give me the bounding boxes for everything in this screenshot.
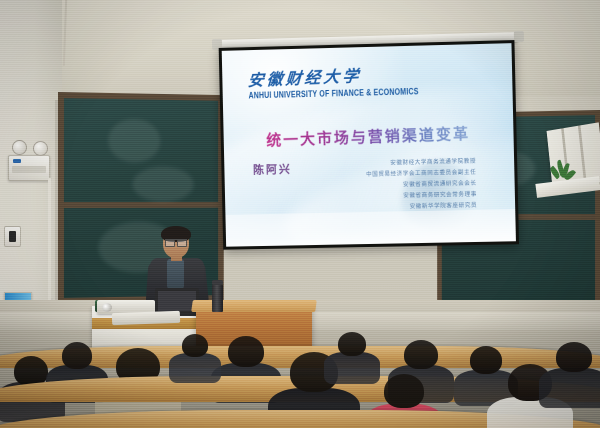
audience-person-head: [404, 340, 438, 369]
eyeglasses-icon: [165, 239, 187, 245]
potted-plant: [548, 160, 574, 188]
wall-dial-icon[interactable]: [12, 140, 27, 155]
roller-bracket-right: [514, 31, 524, 42]
audience-person-body: [324, 352, 380, 384]
slide-credential-line: 安徽新华学院客座研究员: [410, 200, 478, 209]
audience-person-head: [556, 342, 592, 372]
audience-person-head: [470, 346, 502, 374]
vacuum-flask: [212, 284, 223, 312]
presenter-shirt: [167, 259, 184, 289]
audience-person-head: [338, 332, 366, 356]
lectern-top-surface: [191, 300, 317, 312]
slide-bottom-band: [225, 210, 515, 247]
projection-screen-frame: 安徽财经大学 ANHUI UNIVERSITY OF FINANCE & ECO…: [219, 40, 519, 250]
audience-person-head: [228, 336, 264, 367]
slide-credential-line: 安徽省商务研究会常务理事: [403, 190, 477, 200]
audience-person-body: [539, 368, 600, 408]
projector-lens-icon: [102, 303, 112, 312]
panel-indicator-icon: [13, 159, 21, 163]
wall-control-panel[interactable]: [8, 155, 50, 181]
light-switch[interactable]: [4, 226, 21, 247]
chalkboard-divider: [64, 202, 218, 208]
audience-person-head: [62, 342, 92, 369]
monitor-screen: [158, 291, 196, 311]
lecture-hall-photo: 安徽财经大学 ANHUI UNIVERSITY OF FINANCE & ECO…: [0, 0, 600, 428]
projection-screen: 安徽财经大学 ANHUI UNIVERSITY OF FINANCE & ECO…: [222, 43, 516, 247]
keyboard[interactable]: [112, 311, 180, 325]
university-logo-chinese: 安徽财经大学: [247, 62, 362, 91]
panel-strip: [12, 166, 46, 173]
audience-person-head: [182, 334, 208, 357]
chalk-mark: [133, 166, 194, 202]
cable-conduit: [48, 178, 51, 310]
slide-credential-line: 安徽省商贸流通研究会会长: [403, 179, 477, 189]
window-mullion: [578, 125, 587, 184]
audience-area: [0, 330, 600, 428]
audience-person-body: [169, 353, 221, 383]
slide-speaker-name: 陈阿兴: [253, 161, 292, 178]
chalk-mark: [108, 119, 161, 163]
audience-person-head: [384, 374, 424, 408]
flask-cap: [212, 280, 223, 285]
wall-dial-icon[interactable]: [33, 141, 48, 156]
